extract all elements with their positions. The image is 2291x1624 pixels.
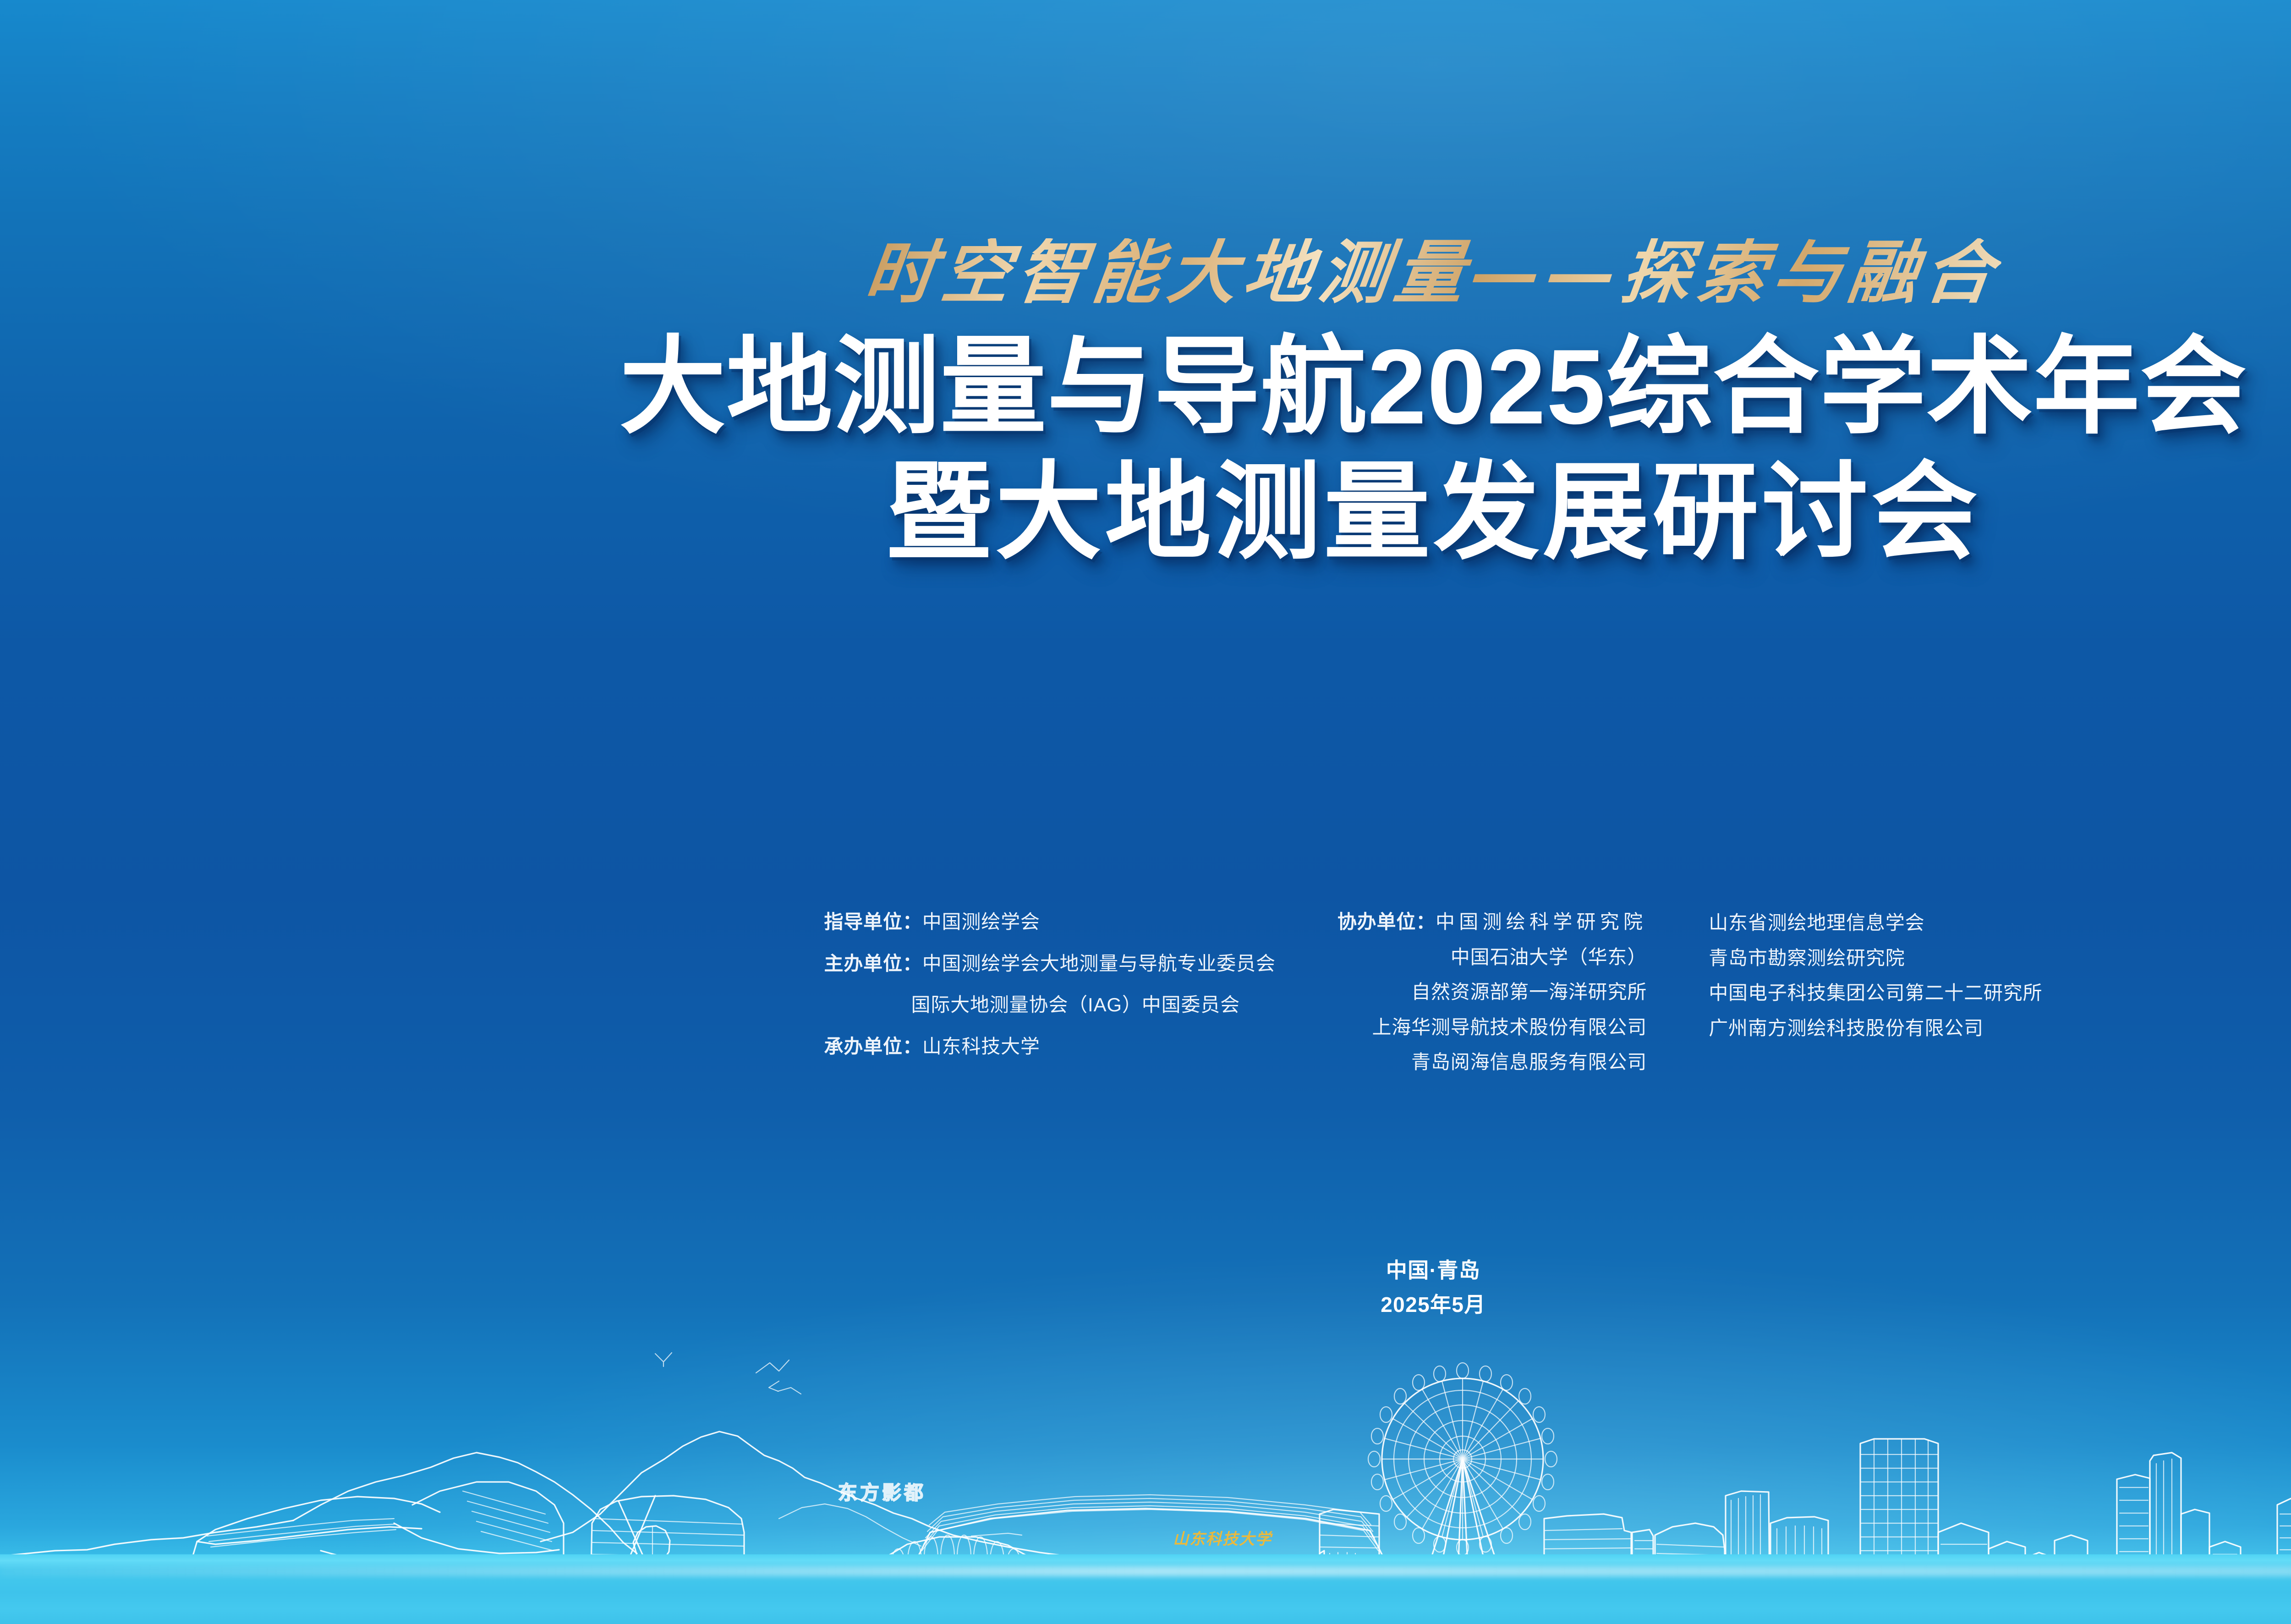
conference-banner: 时空智能大地测量——探索与融合 大地测量与导航2025综合学术年会 暨大地测量发…	[0, 0, 2291, 1624]
credit-row-coorganizer: 协办单位： 中国测绘科学研究院	[1337, 910, 1647, 935]
coorganizer-item: 青岛阅海信息服务有限公司	[1337, 1050, 1647, 1075]
coorganizer-item: 山东省测绘地理信息学会	[1709, 911, 2042, 936]
organizer-value: 中国测绘学会大地测量与导航专业委员会	[922, 951, 1276, 977]
coorganizer-item: 中国电子科技集团公司第二十二研究所	[1709, 981, 2042, 1006]
coorganizer-item: 广州南方测绘科技股份有限公司	[1709, 1016, 2042, 1041]
headline-group: 时空智能大地测量——探索与融合 大地测量与导航2025综合学术年会 暨大地测量发…	[0, 238, 2291, 576]
page-title: 大地测量与导航2025综合学术年会 暨大地测量发展研讨会	[0, 324, 2291, 576]
brush-subtitle: 时空智能大地测量——探索与融合	[862, 238, 2004, 307]
coorganizer-label: 协办单位：	[1337, 910, 1436, 935]
coorganizer-item: 中国石油大学（华东）	[1337, 945, 1647, 970]
host-label: 承办单位：	[824, 1034, 922, 1059]
guidance-value: 中国测绘学会	[922, 910, 1040, 935]
title-line-1: 大地测量与导航2025综合学术年会	[0, 324, 2291, 450]
gate-inscription-text: 山东科技大学	[1173, 1530, 1273, 1548]
credits-column-coorganizer-1: 协办单位： 中国测绘科学研究院 中国石油大学（华东） 自然资源部第一海洋研究所 …	[1337, 910, 1647, 1075]
coorganizer-item: 上海华测导航技术股份有限公司	[1337, 1015, 1647, 1040]
organizer-value-2: 国际大地测量协会（IAG）中国委员会	[824, 993, 1276, 1018]
coorganizer-item: 中国测绘科学研究院	[1436, 910, 1647, 935]
organizer-credits: 指导单位： 中国测绘学会 主办单位： 中国测绘学会大地测量与导航专业委员会 国际…	[0, 910, 2291, 1075]
coorganizer-item: 青岛市勘察测绘研究院	[1709, 946, 2042, 971]
credit-row-organizer: 主办单位： 中国测绘学会大地测量与导航专业委员会	[824, 951, 1276, 977]
host-value: 山东科技大学	[922, 1034, 1040, 1059]
credits-column-left: 指导单位： 中国测绘学会 主办单位： 中国测绘学会大地测量与导航专业委员会 国际…	[824, 910, 1276, 1059]
coorganizer-item: 自然资源部第一海洋研究所	[1337, 980, 1647, 1005]
organizer-label: 主办单位：	[824, 951, 922, 977]
guidance-label: 指导单位：	[824, 910, 922, 935]
mountain-and-stadium: 东方影都	[541, 1353, 1095, 1586]
mountain-sign-text: 东方影都	[838, 1482, 926, 1503]
credits-column-coorganizer-2: 山东省测绘地理信息学会 青岛市勘察测绘研究院 中国电子科技集团公司第二十二研究所…	[1709, 910, 2042, 1041]
title-line-2: 暨大地测量发展研讨会	[0, 450, 2291, 576]
credit-row-host: 承办单位： 山东科技大学	[824, 1034, 1276, 1059]
ground-band	[0, 1554, 2291, 1624]
credit-row-guidance: 指导单位： 中国测绘学会	[824, 910, 1276, 935]
